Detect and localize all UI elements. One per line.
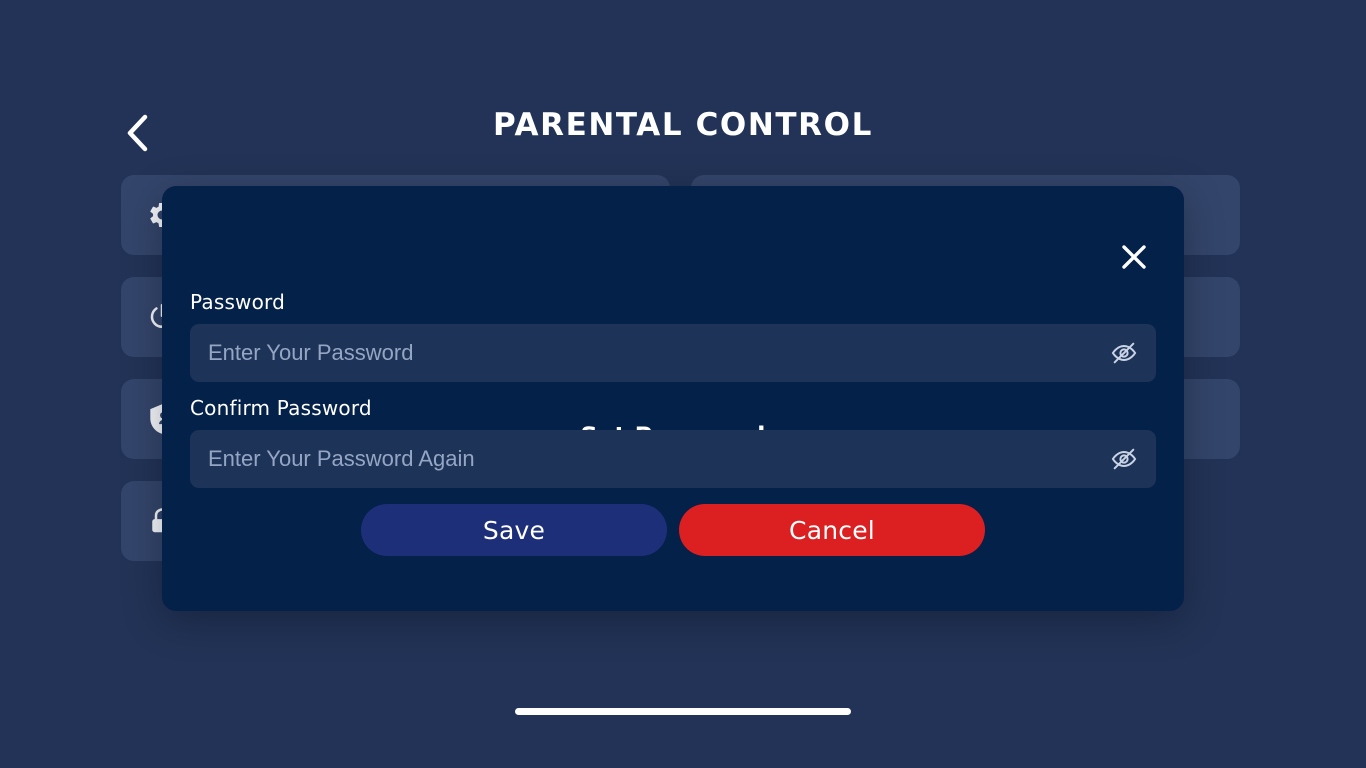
home-indicator	[515, 708, 851, 715]
password-input-wrapper[interactable]	[190, 324, 1156, 382]
cancel-button[interactable]: Cancel	[679, 504, 985, 556]
confirm-password-input[interactable]	[190, 430, 1156, 488]
password-input[interactable]	[190, 324, 1156, 382]
modal-overlay: Set Password Password	[0, 0, 1366, 768]
confirm-password-input-wrapper[interactable]	[190, 430, 1156, 488]
dialog-actions: Save Cancel	[190, 504, 1156, 556]
password-visibility-toggle[interactable]	[1106, 335, 1142, 371]
set-password-dialog: Set Password Password	[162, 186, 1184, 611]
eye-off-icon	[1110, 445, 1138, 473]
dialog-body: Password Confirm Password	[190, 290, 1156, 556]
confirm-password-label: Confirm Password	[190, 396, 1156, 420]
eye-off-icon	[1110, 339, 1138, 367]
close-icon	[1118, 241, 1150, 273]
confirm-password-visibility-toggle[interactable]	[1106, 441, 1142, 477]
password-label: Password	[190, 290, 1156, 314]
save-button[interactable]: Save	[361, 504, 667, 556]
close-button[interactable]	[1112, 235, 1156, 279]
